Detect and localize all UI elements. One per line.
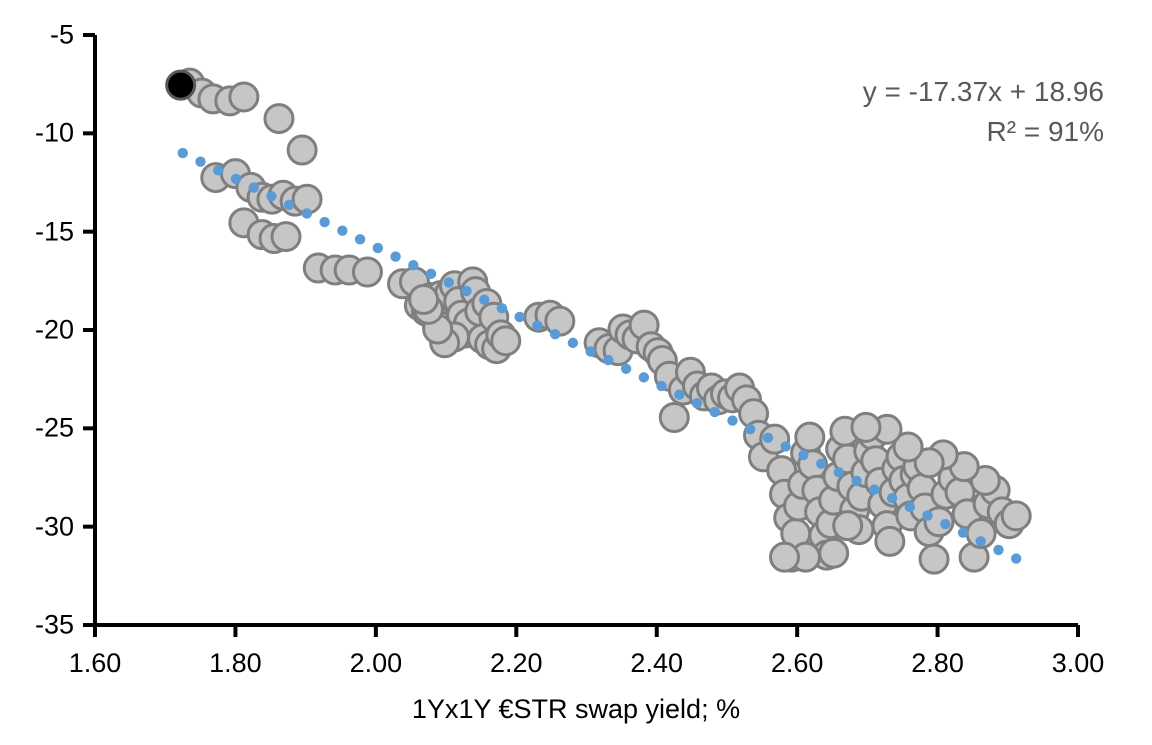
trendline-dot xyxy=(780,441,790,451)
y-axis-tick-label: -35 xyxy=(35,612,74,639)
trendline-dot xyxy=(479,295,489,305)
trendline-dot xyxy=(656,381,666,391)
trendline-dot xyxy=(922,510,932,520)
trendline-dot xyxy=(390,251,400,261)
trendline-dot xyxy=(266,191,276,201)
trendline-dot xyxy=(514,312,524,322)
data-point-marker xyxy=(265,105,293,133)
trendline-dot xyxy=(763,433,773,443)
trendline-dot xyxy=(958,527,968,537)
trendline-dot xyxy=(568,338,578,348)
x-axis-tick-label: 1.80 xyxy=(209,650,262,677)
data-point-marker xyxy=(1002,502,1030,530)
trendline-dot xyxy=(940,519,950,529)
x-axis-tick-label: 2.60 xyxy=(771,650,824,677)
y-axis-tick-label: -5 xyxy=(50,22,74,49)
trendline-dot xyxy=(355,234,365,244)
trendline-dot xyxy=(905,502,915,512)
trendline-dot xyxy=(178,148,188,158)
trendline-dot xyxy=(745,424,755,434)
data-point-marker xyxy=(410,286,438,314)
trendline-dot xyxy=(497,303,507,313)
trendline-dot xyxy=(302,208,312,218)
trendline-dot xyxy=(727,415,737,425)
y-axis-tick-label: -30 xyxy=(35,513,74,540)
data-point-marker xyxy=(272,223,300,251)
trendline-dot xyxy=(869,484,879,494)
data-point-marker xyxy=(920,545,948,573)
trendline-dot xyxy=(231,174,241,184)
trendline-dot xyxy=(461,286,471,296)
trendline-dot xyxy=(337,226,347,236)
x-axis-tick-label: 2.20 xyxy=(490,650,543,677)
trendline-dot xyxy=(692,398,702,408)
x-axis-tick-label: 2.40 xyxy=(630,650,683,677)
highlight-data-point-marker xyxy=(167,71,195,99)
data-point-marker xyxy=(852,413,880,441)
trendline-dot xyxy=(284,200,294,210)
trendline-dot xyxy=(710,407,720,417)
trendline-dot xyxy=(993,545,1003,555)
trendline-dot xyxy=(213,165,223,175)
trendline-dot xyxy=(532,320,542,330)
scatter-chart: -5-10-15-20-25-30-35 1.601.802.002.202.4… xyxy=(0,0,1152,745)
y-axis-tick-label: -10 xyxy=(35,120,74,147)
trendline-dot xyxy=(851,476,861,486)
trendline-dot xyxy=(603,355,613,365)
trendline-dot xyxy=(639,372,649,382)
x-axis-tick-label: 2.00 xyxy=(350,650,403,677)
trendline-equation-annotation: y = -17.37x + 18.96 R² = 91% xyxy=(863,72,1104,152)
highlight-marker-layer xyxy=(167,71,195,99)
y-axis-tick-label: -25 xyxy=(35,415,74,442)
data-point-marker xyxy=(834,512,862,540)
x-axis-tick-label: 2.80 xyxy=(911,650,964,677)
trendline-dot xyxy=(550,329,560,339)
trendline-dot xyxy=(373,243,383,253)
trendline-dot xyxy=(248,182,258,192)
trendline-dot xyxy=(1011,553,1021,563)
trendline-dot xyxy=(319,217,329,227)
trendline-dot xyxy=(834,467,844,477)
trendline-dot xyxy=(408,260,418,270)
data-point-marker xyxy=(820,539,848,567)
x-axis-title: 1Yx1Y €STR swap yield; % xyxy=(0,694,1152,725)
trendline-dot xyxy=(621,364,631,374)
data-point-marker xyxy=(771,543,799,571)
data-point-marker xyxy=(492,327,520,355)
data-point-marker xyxy=(353,258,381,286)
data-point-marker xyxy=(230,83,258,111)
trendline-dot xyxy=(798,450,808,460)
x-axis-tick-label: 1.60 xyxy=(69,650,122,677)
r-squared-text: R² = 91% xyxy=(863,112,1104,152)
data-point-marker xyxy=(288,136,316,164)
trendline-dot xyxy=(585,346,595,356)
y-axis-tick-label: -20 xyxy=(35,317,74,344)
trendline-dot xyxy=(674,389,684,399)
y-axis-tick-label: -15 xyxy=(35,218,74,245)
data-point-marker xyxy=(660,404,688,432)
trendline-dot xyxy=(426,269,436,279)
x-axis-tick-label: 3.00 xyxy=(1052,650,1105,677)
data-point-marker xyxy=(546,307,574,335)
trendline-dot xyxy=(195,156,205,166)
trendline-dot xyxy=(816,458,826,468)
regression-equation-text: y = -17.37x + 18.96 xyxy=(863,72,1104,112)
trendline-dot xyxy=(976,536,986,546)
data-point-marker xyxy=(876,527,904,555)
trendline-dot xyxy=(444,277,454,287)
data-point-marker xyxy=(796,423,824,451)
trendline-dot xyxy=(887,493,897,503)
